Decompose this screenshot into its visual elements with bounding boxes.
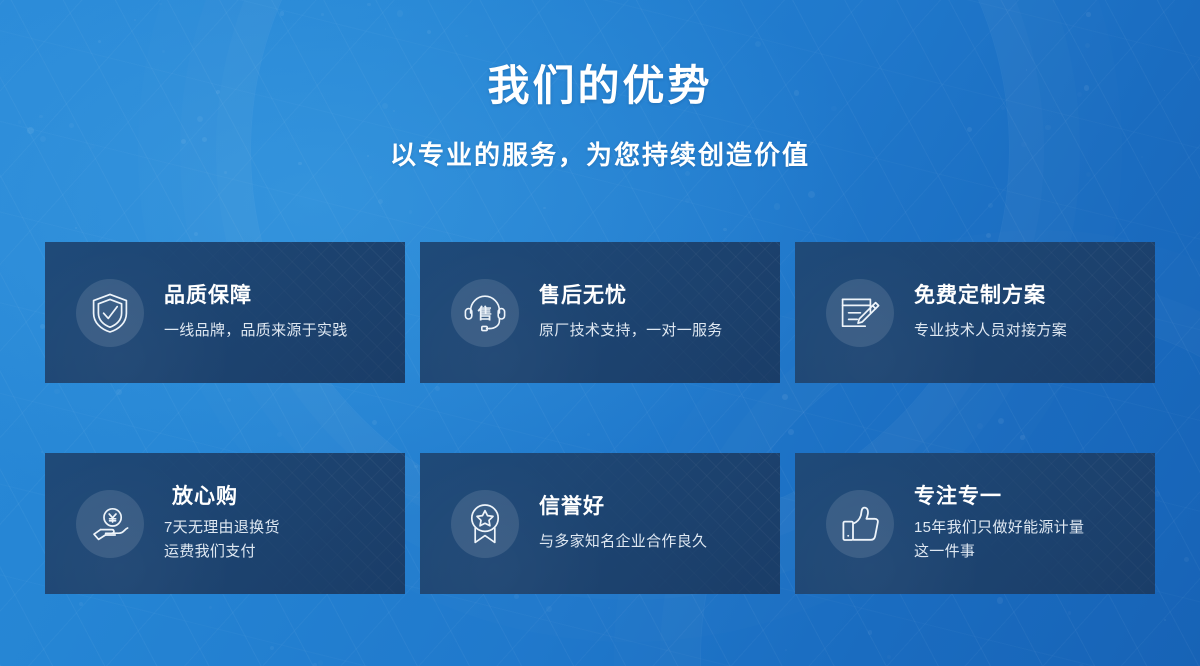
advantage-card-text: 放心购 7天无理由退换货 运费我们支付 [164, 484, 280, 563]
shield-check-icon [76, 279, 144, 347]
advantage-card[interactable]: 信誉好 与多家知名企业合作良久 [420, 453, 780, 594]
star-badge-icon [451, 490, 519, 558]
advantage-desc-line: 7天无理由退换货 [164, 516, 280, 539]
advantage-card[interactable]: 专注专一 15年我们只做好能源计量 这一件事 [795, 453, 1155, 594]
advantage-card[interactable]: 品质保障 一线品牌，品质来源于实践 [45, 242, 405, 383]
advantage-card-title: 专注专一 [914, 484, 1084, 509]
advantage-card-title: 品质保障 [164, 283, 348, 308]
advantage-card-text: 售后无忧 原厂技术支持，一对一服务 [539, 283, 723, 342]
advantage-card[interactable]: 免费定制方案 专业技术人员对接方案 [795, 242, 1155, 383]
advantage-desc-line: 运费我们支付 [164, 540, 280, 563]
page-subtitle: 以专业的服务，为您持续创造价值 [0, 135, 1200, 172]
advantage-desc-line: 与多家知名企业合作良久 [539, 530, 707, 553]
advantage-card-text: 免费定制方案 专业技术人员对接方案 [914, 283, 1067, 342]
advantage-card-desc: 15年我们只做好能源计量 这一件事 [914, 516, 1084, 563]
headset-service-icon: 售 [451, 279, 519, 347]
advantage-card[interactable]: 放心购 7天无理由退换货 运费我们支付 [45, 453, 405, 594]
hand-yen-coin-icon [76, 490, 144, 558]
advantage-desc-line: 这一件事 [914, 540, 1084, 563]
advantage-desc-line: 专业技术人员对接方案 [914, 319, 1067, 342]
advantage-desc-line: 原厂技术支持，一对一服务 [539, 319, 723, 342]
advantage-card-desc: 7天无理由退换货 运费我们支付 [164, 516, 280, 563]
advantage-desc-line: 15年我们只做好能源计量 [914, 516, 1084, 539]
thumbs-up-icon [826, 490, 894, 558]
advantage-card-desc: 原厂技术支持，一对一服务 [539, 319, 723, 342]
section-heading: 我们的优势 以专业的服务，为您持续创造价值 [0, 62, 1200, 172]
advantages-banner: 我们的优势 以专业的服务，为您持续创造价值 品质保障 一线品牌，品质来源于实践 [0, 0, 1200, 666]
advantage-card-text: 品质保障 一线品牌，品质来源于实践 [164, 283, 348, 342]
advantage-card-text: 专注专一 15年我们只做好能源计量 这一件事 [914, 484, 1084, 563]
advantage-card-desc: 与多家知名企业合作良久 [539, 530, 707, 553]
document-pencil-icon [826, 279, 894, 347]
headset-icon-glyph: 售 [477, 304, 492, 322]
page-title: 我们的优势 [0, 62, 1200, 110]
advantage-card-text: 信誉好 与多家知名企业合作良久 [539, 494, 707, 553]
advantage-card-desc: 一线品牌，品质来源于实践 [164, 319, 348, 342]
advantage-card-grid: 品质保障 一线品牌，品质来源于实践 售 售后无忧 [45, 242, 1155, 594]
advantage-card-title: 信誉好 [539, 494, 707, 519]
advantage-desc-line: 一线品牌，品质来源于实践 [164, 319, 348, 342]
advantage-card-desc: 专业技术人员对接方案 [914, 319, 1067, 342]
advantage-card-title: 免费定制方案 [914, 283, 1067, 308]
advantage-card-title: 放心购 [172, 484, 280, 509]
advantage-card-title: 售后无忧 [539, 283, 723, 308]
advantage-card[interactable]: 售 售后无忧 原厂技术支持，一对一服务 [420, 242, 780, 383]
